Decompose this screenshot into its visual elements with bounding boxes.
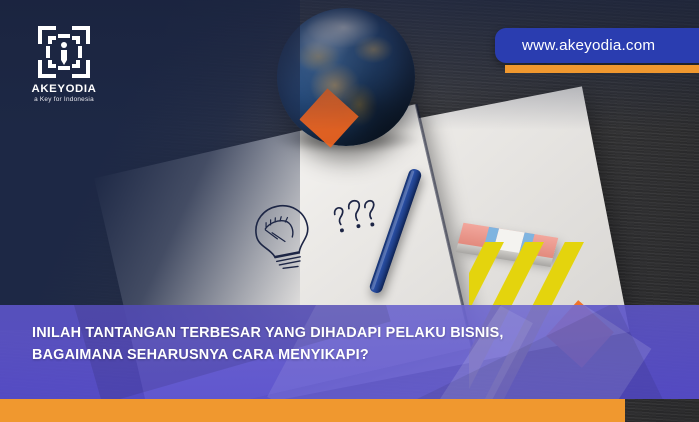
website-url-text: www.akeyodia.com bbox=[522, 37, 655, 54]
promo-banner-image: INILAH TANTANGAN TERBESAR YANG DIHADAPI … bbox=[0, 0, 699, 422]
akeyodia-logo[interactable]: AKEYODIA a Key for Indonesia bbox=[24, 24, 104, 106]
headline-banner: INILAH TANTANGAN TERBESAR YANG DIHADAPI … bbox=[0, 305, 699, 399]
logo-tagline: a Key for Indonesia bbox=[24, 96, 104, 103]
globe-highlight bbox=[302, 19, 360, 58]
headline-line-1: INILAH TANTANGAN TERBESAR YANG DIHADAPI … bbox=[32, 322, 622, 344]
footer-accent-bar bbox=[0, 399, 625, 422]
akeyodia-square-key-icon bbox=[36, 24, 92, 80]
logo-wordmark: AKEYODIA bbox=[24, 83, 104, 95]
url-badge-underbar bbox=[505, 65, 699, 73]
website-url-badge[interactable]: www.akeyodia.com bbox=[495, 28, 699, 63]
headline-line-2: BAGAIMANA SEHARUSNYA CARA MENYIKAPI? bbox=[32, 344, 622, 366]
page-title: INILAH TANTANGAN TERBESAR YANG DIHADAPI … bbox=[32, 322, 622, 366]
